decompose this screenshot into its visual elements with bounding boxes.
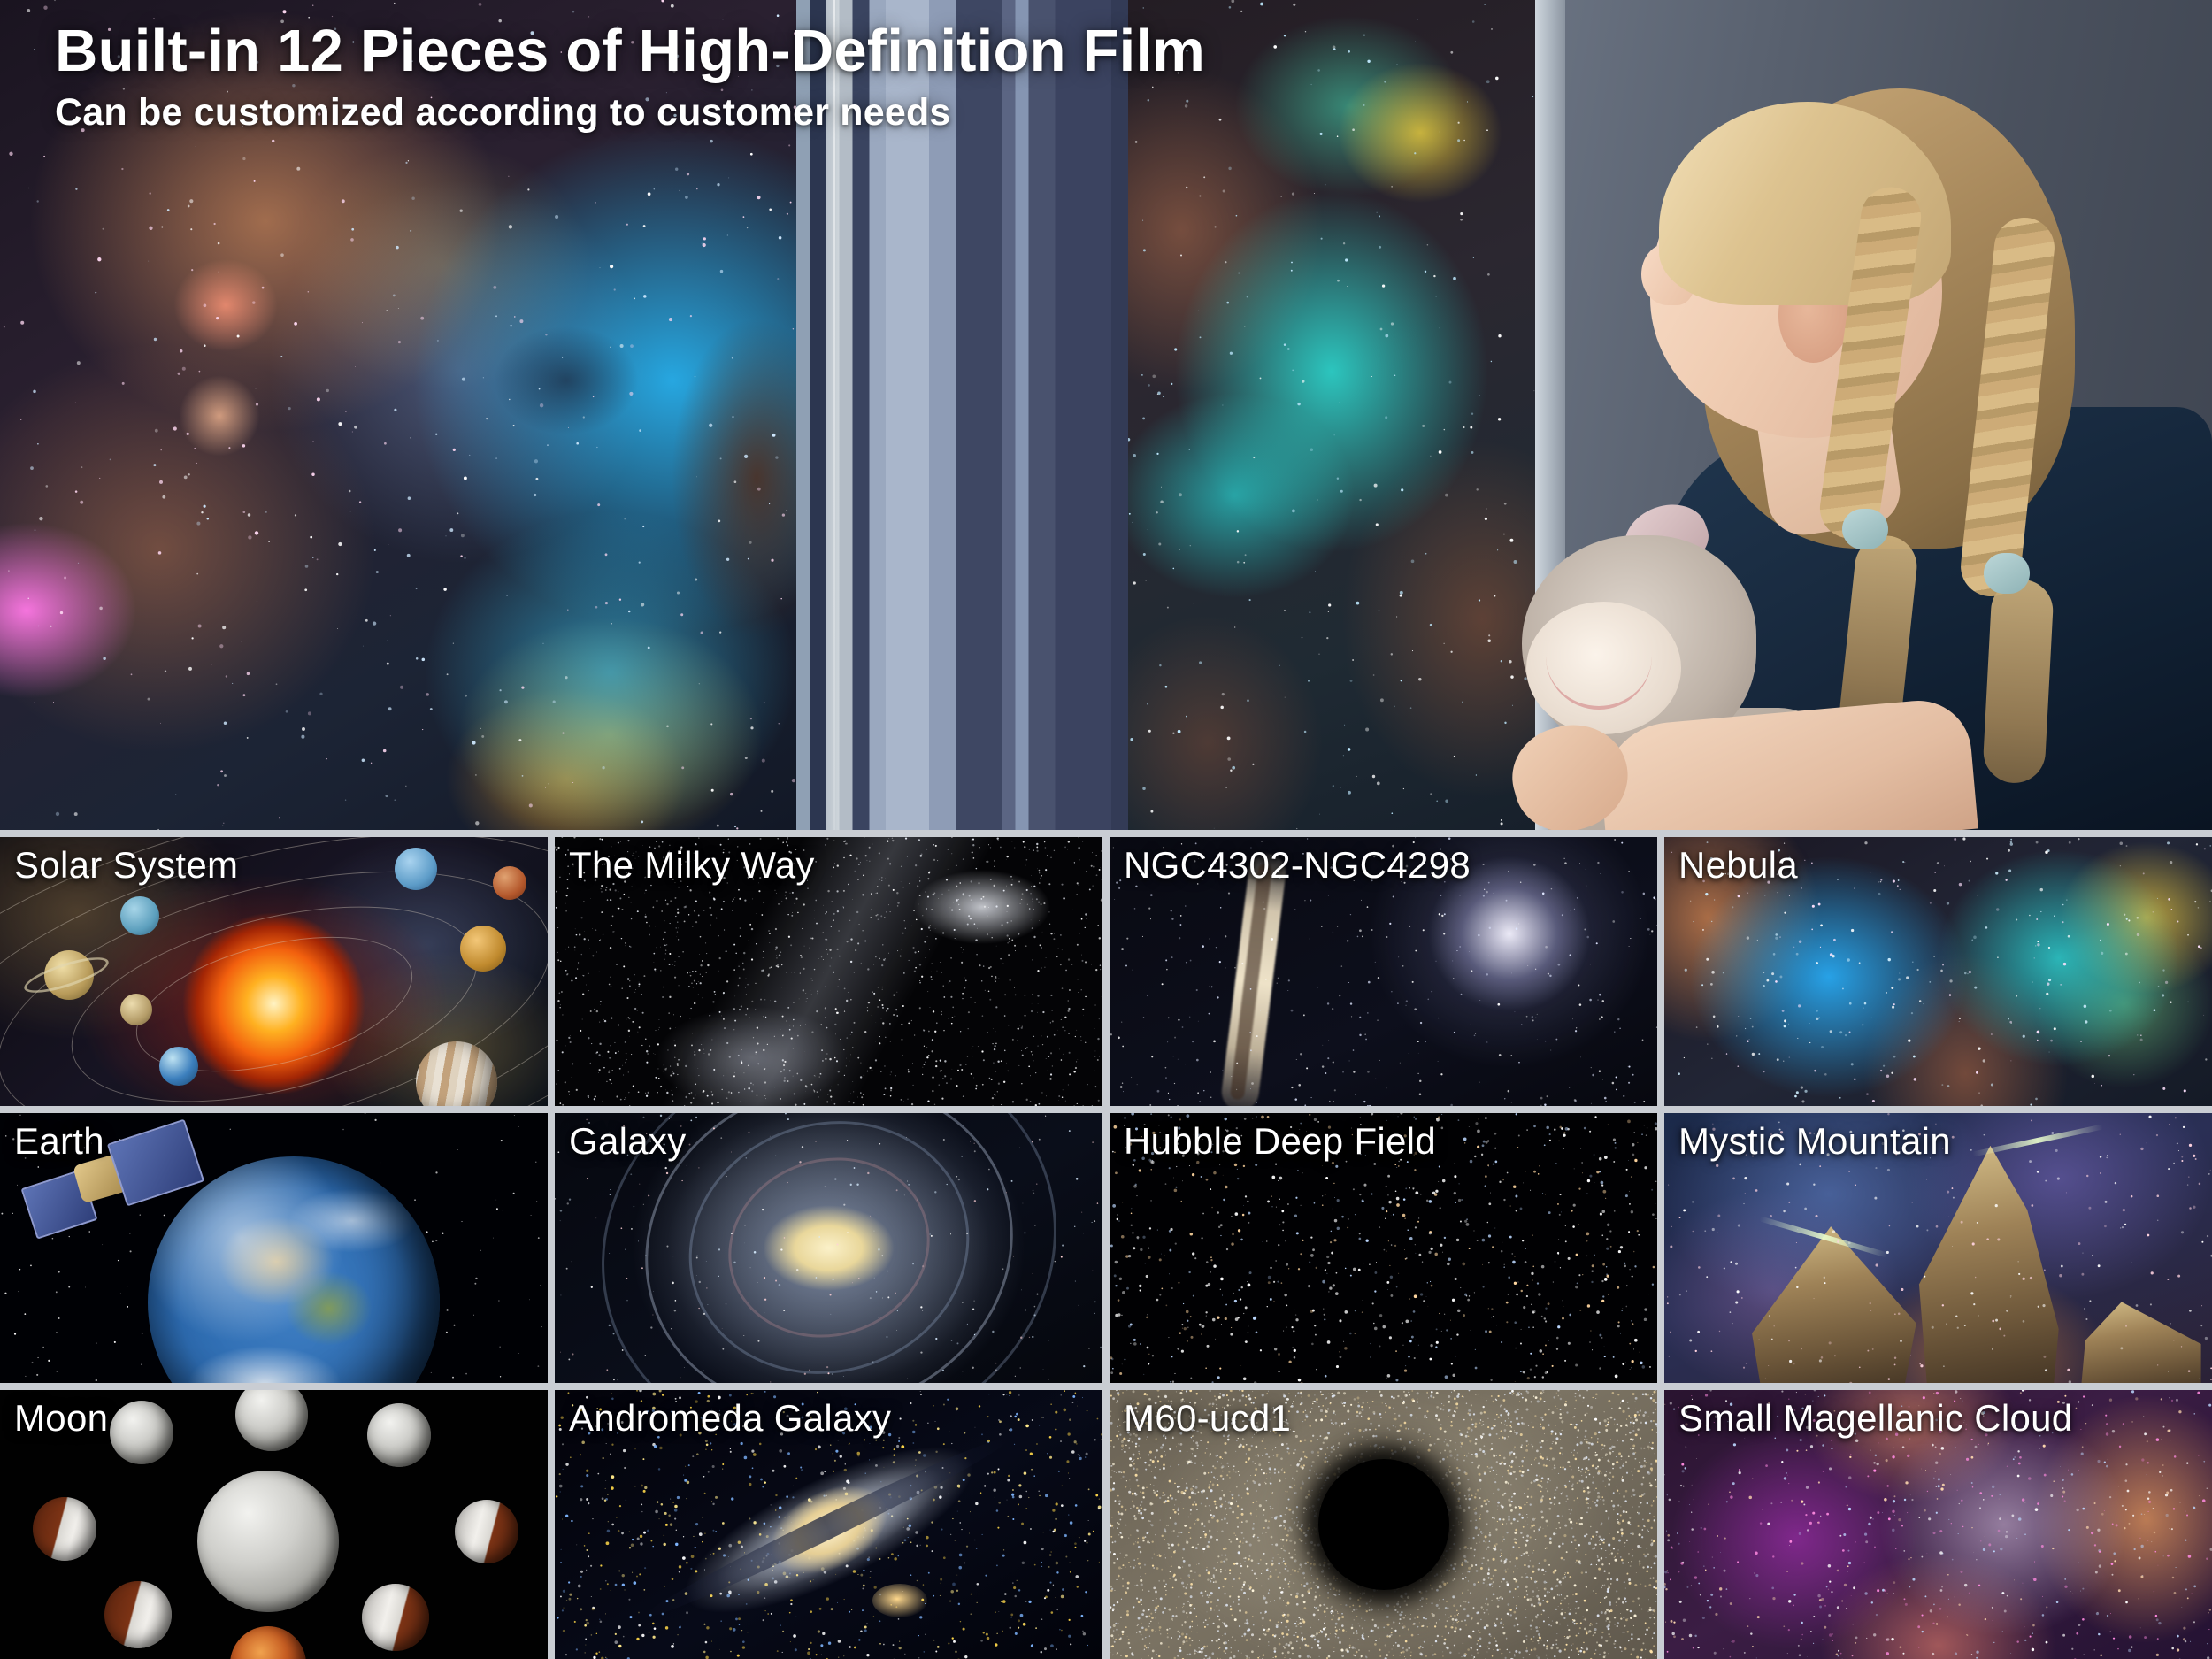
planet-mercury xyxy=(120,994,152,1025)
andromeda-satellite-galaxy xyxy=(872,1584,927,1617)
film-tile-moon[interactable]: Moon xyxy=(0,1390,548,1659)
black-hole xyxy=(1318,1459,1449,1590)
girl-hair-tail-right xyxy=(1982,578,2055,784)
film-tile-label: Earth xyxy=(14,1120,104,1163)
nebula-pillar-left xyxy=(1752,1226,1916,1383)
film-grid: Solar System The Milky Way NGC4302-NGC42… xyxy=(0,830,2212,1659)
teddy-bear-muzzle xyxy=(1526,602,1681,734)
film-tile-label: NGC4302-NGC4298 xyxy=(1124,844,1471,887)
film-tile-solar-system[interactable]: Solar System xyxy=(0,837,548,1106)
film-tile-milky-way[interactable]: The Milky Way xyxy=(555,837,1102,1106)
film-tile-galaxy[interactable]: Galaxy xyxy=(555,1113,1102,1382)
planet-neptune xyxy=(395,848,437,890)
satellite-solar-panel-right xyxy=(107,1118,204,1206)
headline: Built-in 12 Pieces of High-Definition Fi… xyxy=(55,19,1205,83)
girl-hair-tie-right xyxy=(1984,553,2030,594)
film-tile-label: Small Magellanic Cloud xyxy=(1678,1397,2072,1440)
planet-uranus xyxy=(120,896,159,935)
film-tile-label: M60-ucd1 xyxy=(1124,1397,1291,1440)
film-tile-andromeda-galaxy[interactable]: Andromeda Galaxy xyxy=(555,1390,1102,1659)
film-tile-label: Nebula xyxy=(1678,844,1798,887)
earth-globe xyxy=(148,1156,440,1383)
moon-phase-upper-left xyxy=(110,1401,173,1464)
moon-phase-left xyxy=(33,1497,96,1561)
film-tile-label: Galaxy xyxy=(569,1120,687,1163)
film-tile-hubble-deep-field[interactable]: Hubble Deep Field xyxy=(1110,1113,1657,1382)
film-tile-m60-ucd1[interactable]: M60-ucd1 xyxy=(1110,1390,1657,1659)
film-tile-ngc4302-ngc4298[interactable]: NGC4302-NGC4298 xyxy=(1110,837,1657,1106)
film-tile-label: Mystic Mountain xyxy=(1678,1120,1951,1163)
girl-hair-tie-left xyxy=(1842,509,1888,549)
moon-phase-upper-right xyxy=(367,1403,431,1467)
headline-block: Built-in 12 Pieces of High-Definition Fi… xyxy=(55,19,1205,134)
subheadline: Can be customized according to customer … xyxy=(55,91,1205,134)
film-tile-label: Solar System xyxy=(14,844,238,887)
nebula-pillar-right xyxy=(2080,1302,2200,1382)
film-tile-label: The Milky Way xyxy=(569,844,815,887)
moon-phase-lower-right xyxy=(362,1584,429,1651)
moon-blood xyxy=(230,1626,306,1659)
film-tile-mystic-mountain[interactable]: Mystic Mountain xyxy=(1664,1113,2212,1382)
moon-phase-top xyxy=(235,1390,308,1452)
film-tile-label: Hubble Deep Field xyxy=(1124,1120,1436,1163)
stellar-jet-top xyxy=(1972,1124,2103,1156)
planet-earth xyxy=(159,1047,198,1086)
nebula-pillar-main xyxy=(1916,1146,2059,1383)
moon-phase-lower-left xyxy=(104,1581,172,1648)
moon-phase-right xyxy=(455,1500,518,1563)
film-tile-label: Andromeda Galaxy xyxy=(569,1397,891,1440)
film-tile-earth[interactable]: Earth xyxy=(0,1113,548,1382)
film-tile-nebula[interactable]: Nebula xyxy=(1664,837,2212,1106)
planet-venus xyxy=(460,926,506,972)
edge-on-galaxy xyxy=(1220,852,1288,1107)
film-tile-small-magellanic-cloud[interactable]: Small Magellanic Cloud xyxy=(1664,1390,2212,1659)
film-tile-label: Moon xyxy=(14,1397,108,1440)
girl-with-teddy-bear xyxy=(1495,53,2212,830)
moon-full xyxy=(197,1471,339,1612)
hero-banner: Built-in 12 Pieces of High-Definition Fi… xyxy=(0,0,2212,830)
